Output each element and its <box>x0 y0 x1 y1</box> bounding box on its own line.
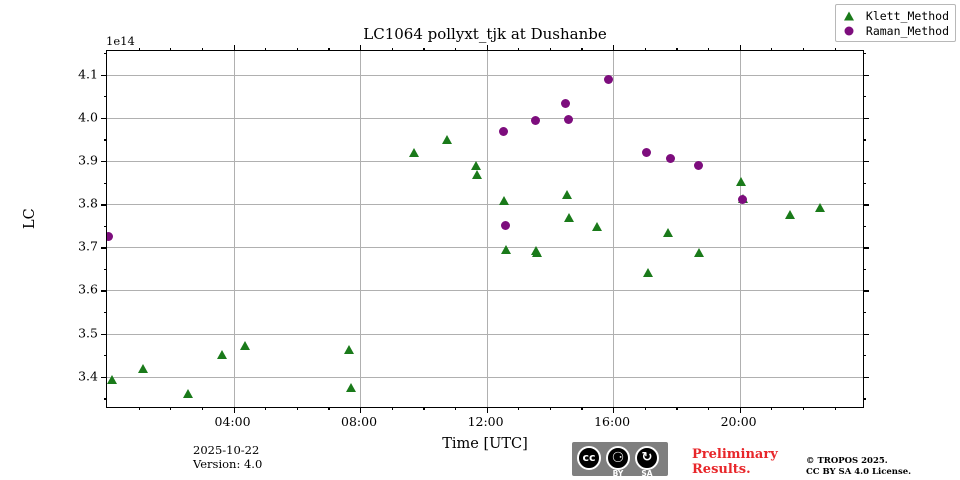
y-axis-tick-label: 4.0 <box>78 109 98 124</box>
y-axis-tick-label: 3.8 <box>78 196 98 211</box>
legend-label-klett: Klett_Method <box>866 9 949 23</box>
data-point-klett <box>409 148 419 157</box>
copyright-line-2: CC BY SA 4.0 License. <box>806 467 911 478</box>
x-axis-minor-tick-top <box>392 48 393 51</box>
y-axis-minor-tick-right <box>863 96 866 97</box>
preliminary-results-notice: Preliminary Results. <box>692 447 778 477</box>
x-axis-minor-tick <box>676 407 677 410</box>
gridline-horizontal <box>107 290 863 291</box>
y-axis-tick-right <box>863 290 869 291</box>
x-axis-minor-tick <box>392 407 393 410</box>
y-axis-minor-tick-right <box>863 226 866 227</box>
x-axis-minor-tick-top <box>803 48 804 51</box>
legend-label-raman: Raman_Method <box>866 24 949 38</box>
x-axis-tick <box>613 407 614 413</box>
y-axis-tick-right <box>863 377 869 378</box>
x-axis-minor-tick-top <box>645 48 646 51</box>
y-axis-minor-tick-right <box>863 183 866 184</box>
x-axis-tick-labels: 04:0008:0012:0016:0020:00 <box>106 414 864 432</box>
data-point-klett <box>501 245 511 254</box>
gridline-horizontal <box>107 75 863 76</box>
data-point-klett <box>694 248 704 257</box>
data-point-klett <box>785 210 795 219</box>
y-axis-tick-right <box>863 247 869 248</box>
klett-marker-icon <box>840 8 866 23</box>
x-axis-minor-tick <box>328 407 329 410</box>
data-point-raman <box>666 154 675 163</box>
cc-sa-label: SA <box>635 469 659 478</box>
data-point-klett <box>217 350 227 359</box>
data-point-klett <box>442 135 452 144</box>
y-axis-minor-tick <box>104 183 107 184</box>
y-axis-tick <box>101 377 107 378</box>
gridline-horizontal <box>107 161 863 162</box>
x-axis-minor-tick <box>170 407 171 410</box>
y-axis-tick-right <box>863 118 869 119</box>
cc-logo-icon: cc <box>577 446 601 470</box>
data-point-klett <box>471 161 481 170</box>
y-axis-tick <box>101 75 107 76</box>
data-point-klett <box>663 228 673 237</box>
gridline-horizontal <box>107 118 863 119</box>
measurement-date: 2025-10-22 <box>193 443 262 457</box>
x-axis-tick-label: 08:00 <box>341 414 377 429</box>
plot-area <box>106 50 864 408</box>
y-axis-minor-tick <box>104 355 107 356</box>
gridline-horizontal <box>107 377 863 378</box>
x-axis-minor-tick <box>550 407 551 410</box>
y-axis-tick-label: 3.5 <box>78 325 98 340</box>
x-axis-tick-label: 20:00 <box>721 414 757 429</box>
x-axis-tick <box>360 407 361 413</box>
y-axis-minor-tick <box>104 398 107 399</box>
x-axis-minor-tick <box>265 407 266 410</box>
y-axis-tick <box>101 290 107 291</box>
data-point-klett <box>532 248 542 257</box>
gridline-vertical <box>234 51 235 407</box>
cc-by-icon: ⚆ <box>606 446 630 470</box>
data-point-klett <box>736 177 746 186</box>
y-axis-tick <box>101 118 107 119</box>
legend-item-raman[interactable]: Raman_Method <box>840 23 949 38</box>
data-point-raman <box>738 195 747 204</box>
x-axis-tick-label: 16:00 <box>594 414 630 429</box>
data-point-raman <box>694 161 703 170</box>
gridline-vertical <box>613 51 614 407</box>
y-axis-tick-right <box>863 204 869 205</box>
creative-commons-badge-icon: cc ⚆ ↻ BY SA <box>572 442 668 476</box>
y-axis-tick-label: 3.6 <box>78 282 98 297</box>
y-axis-tick-right <box>863 334 869 335</box>
x-axis-tick <box>234 407 235 413</box>
y-axis-minor-tick <box>104 139 107 140</box>
data-point-klett <box>346 383 356 392</box>
x-axis-tick-top <box>234 45 235 51</box>
data-point-raman <box>642 148 651 157</box>
data-point-klett <box>815 203 825 212</box>
y-axis-tick-right <box>863 161 869 162</box>
x-axis-minor-tick <box>202 407 203 410</box>
gridline-vertical <box>487 51 488 407</box>
y-axis-minor-tick-right <box>863 312 866 313</box>
x-axis-minor-tick <box>803 407 804 410</box>
data-point-raman <box>561 99 570 108</box>
x-axis-tick-label: 12:00 <box>468 414 504 429</box>
plot-inner <box>107 51 863 407</box>
gridline-horizontal <box>107 334 863 335</box>
data-point-raman <box>604 75 613 84</box>
gridline-vertical <box>360 51 361 407</box>
data-point-raman <box>107 232 113 241</box>
data-point-klett <box>564 213 574 222</box>
gridline-horizontal <box>107 204 863 205</box>
data-point-klett <box>592 222 602 231</box>
raman-marker-icon <box>840 23 866 38</box>
copyright-line-1: © TROPOS 2025. <box>806 456 911 467</box>
data-point-klett <box>183 389 193 398</box>
x-axis-minor-tick <box>708 407 709 410</box>
y-axis-minor-tick-right <box>863 269 866 270</box>
y-axis-minor-tick <box>104 269 107 270</box>
y-axis-minor-tick-right <box>863 355 866 356</box>
x-axis-minor-tick-top <box>676 48 677 51</box>
y-axis-offset-label: 1e14 <box>106 34 135 48</box>
x-axis-tick <box>740 407 741 413</box>
data-point-klett <box>643 268 653 277</box>
x-axis-tick-top <box>740 45 741 51</box>
data-point-klett <box>499 196 509 205</box>
x-axis-minor-tick-top <box>170 48 171 51</box>
data-point-klett <box>472 170 482 179</box>
x-axis-minor-tick <box>455 407 456 410</box>
x-axis-tick-top <box>360 45 361 51</box>
x-axis-minor-tick <box>139 407 140 410</box>
x-axis-tick-top <box>487 45 488 51</box>
y-axis-label: LC <box>22 208 38 229</box>
data-point-klett <box>344 345 354 354</box>
data-point-klett <box>107 375 117 384</box>
x-axis-minor-tick <box>423 407 424 410</box>
x-axis-minor-tick-top <box>550 48 551 51</box>
x-axis-minor-tick-top <box>202 48 203 51</box>
gridline-vertical <box>740 51 741 407</box>
y-axis-minor-tick <box>104 312 107 313</box>
x-axis-tick-label: 04:00 <box>215 414 251 429</box>
data-point-raman <box>499 127 508 136</box>
x-axis-minor-tick <box>645 407 646 410</box>
x-axis-tick <box>487 407 488 413</box>
y-axis-minor-tick-right <box>863 398 866 399</box>
y-axis-minor-tick <box>104 96 107 97</box>
x-axis-minor-tick-top <box>139 48 140 51</box>
y-axis-tick-label: 3.7 <box>78 239 98 254</box>
y-axis-minor-tick <box>104 53 107 54</box>
x-axis-minor-tick-top <box>265 48 266 51</box>
x-axis-minor-tick-top <box>297 48 298 51</box>
y-axis-tick-label: 4.1 <box>78 66 98 81</box>
data-point-klett <box>240 341 250 350</box>
y-axis-minor-tick <box>104 226 107 227</box>
data-point-raman <box>564 115 573 124</box>
x-axis-minor-tick-top <box>455 48 456 51</box>
y-axis-tick <box>101 161 107 162</box>
copyright-notice: © TROPOS 2025. CC BY SA 4.0 License. <box>806 456 911 478</box>
x-axis-tick-top <box>613 45 614 51</box>
data-point-klett <box>138 364 148 373</box>
legend[interactable]: Klett_Method Raman_Method <box>835 4 956 42</box>
x-axis-minor-tick <box>771 407 772 410</box>
y-axis-tick <box>101 334 107 335</box>
x-axis-minor-tick-top <box>423 48 424 51</box>
cc-by-label: BY <box>606 469 630 478</box>
x-axis-minor-tick-top <box>771 48 772 51</box>
y-axis-tick-label: 3.9 <box>78 153 98 168</box>
preliminary-line-1: Preliminary <box>692 447 778 462</box>
footer-date-block: 2025-10-22 Version: 4.0 <box>193 443 262 471</box>
x-axis-minor-tick <box>835 407 836 410</box>
data-point-raman <box>531 116 540 125</box>
y-axis-minor-tick-right <box>863 53 866 54</box>
preliminary-line-2: Results. <box>692 462 778 477</box>
x-axis-minor-tick-top <box>328 48 329 51</box>
page-title: LC1064 pollyxt_tjk at Dushanbe <box>106 25 864 43</box>
y-axis-tick-labels: 3.43.53.63.73.83.94.04.1 <box>50 50 98 408</box>
version-text: Version: 4.0 <box>193 457 262 471</box>
y-axis-tick <box>101 204 107 205</box>
y-axis-tick-label: 3.4 <box>78 368 98 383</box>
x-axis-minor-tick <box>518 407 519 410</box>
y-axis-tick-right <box>863 75 869 76</box>
x-axis-minor-tick <box>581 407 582 410</box>
x-axis-minor-tick-top <box>708 48 709 51</box>
x-axis-minor-tick <box>297 407 298 410</box>
gridline-horizontal <box>107 247 863 248</box>
legend-item-klett[interactable]: Klett_Method <box>840 8 949 23</box>
x-axis-minor-tick-top <box>581 48 582 51</box>
y-axis-tick <box>101 247 107 248</box>
data-point-klett <box>562 190 572 199</box>
y-axis-minor-tick-right <box>863 139 866 140</box>
x-axis-minor-tick-top <box>835 48 836 51</box>
cc-sa-icon: ↻ <box>635 446 659 470</box>
figure-canvas: LC1064 pollyxt_tjk at Dushanbe 1e14 3.43… <box>0 0 960 480</box>
data-point-raman <box>501 221 510 230</box>
x-axis-minor-tick-top <box>518 48 519 51</box>
